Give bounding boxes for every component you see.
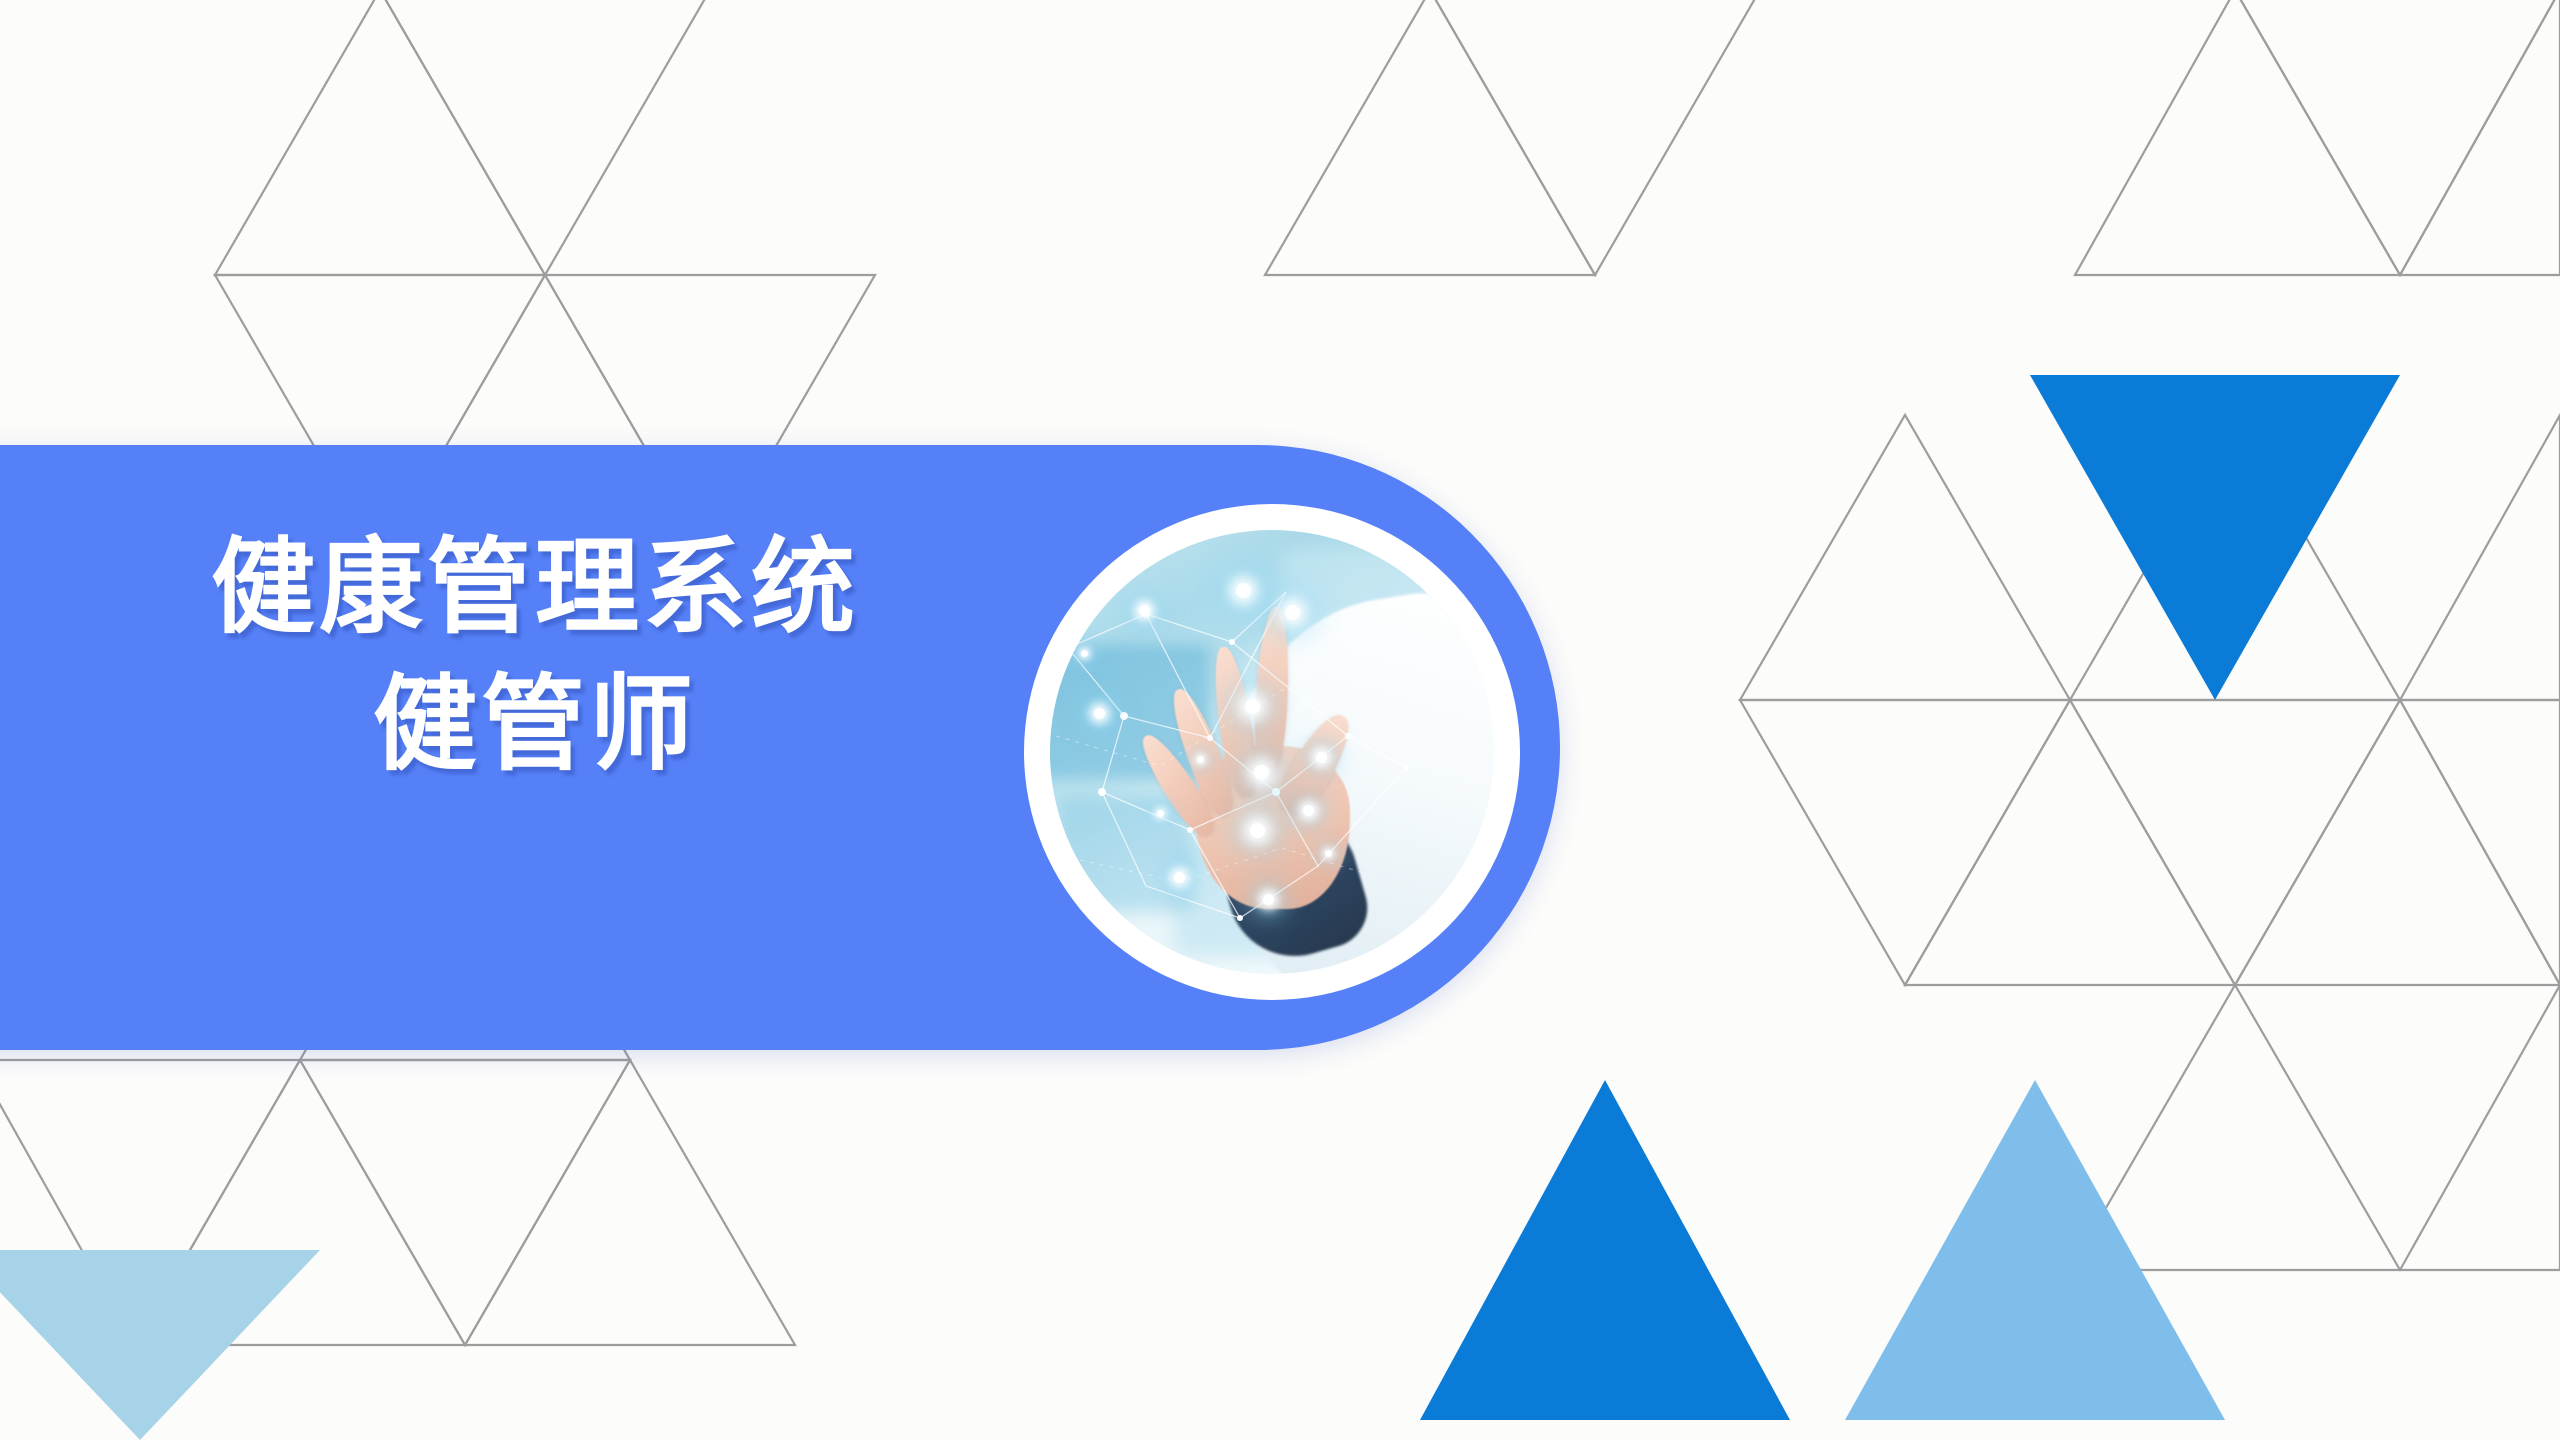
hero-photo-circle	[1037, 517, 1507, 987]
glow-node	[1157, 810, 1164, 817]
glow-node	[1325, 850, 1332, 857]
hero-photo-image	[1050, 530, 1494, 974]
bottom-center-up-triangle	[1420, 1080, 1790, 1420]
bottom-right-up-triangle	[1845, 1080, 2225, 1420]
title-slide: 健康管理系统 健管师	[0, 0, 2560, 1440]
bottom-left-down-triangle	[0, 1250, 320, 1440]
title-line-primary: 健康管理系统	[70, 520, 1000, 657]
title-line-secondary: 健管师	[70, 657, 1000, 794]
network-nodes	[1098, 610, 1409, 921]
glow-node	[1245, 699, 1260, 714]
network-graph-overlay	[1050, 530, 1494, 974]
glow-node	[1094, 708, 1105, 719]
glow-node	[1081, 650, 1088, 657]
top-right-down-triangle	[2030, 375, 2400, 700]
glow-node	[1197, 756, 1204, 763]
glow-node	[1250, 823, 1265, 838]
page-title: 健康管理系统 健管师	[70, 520, 1000, 795]
